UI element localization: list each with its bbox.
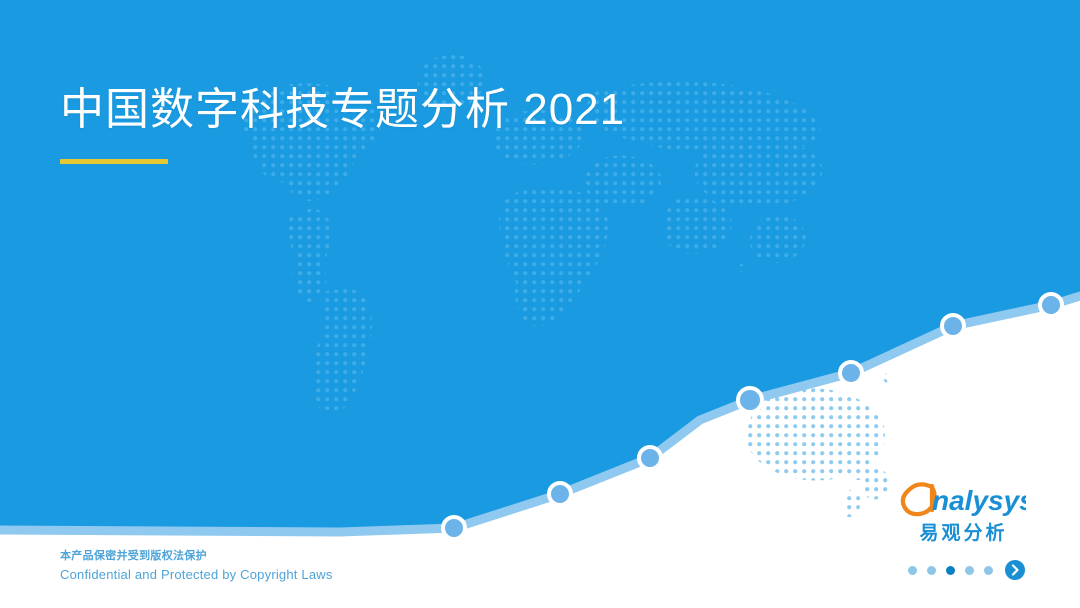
analysys-logo: nalysys 易观分析 [898, 477, 1026, 545]
analysys-wordmark-icon: nalysys [898, 477, 1026, 517]
copyright-footer: 本产品保密并受到版权法保护 Confidential and Protected… [60, 548, 333, 585]
copyright-notice-cn: 本产品保密并受到版权法保护 [60, 548, 333, 565]
trend-marker [443, 517, 465, 539]
slide-pager[interactable] [908, 560, 1025, 580]
pager-dot[interactable] [965, 566, 974, 575]
page-title: 中国数字科技专题分析 2021 [60, 82, 625, 137]
next-slide-button[interactable] [1005, 560, 1025, 580]
title-accent-rule [60, 159, 168, 164]
analysys-name-cn: 易观分析 [898, 518, 1026, 545]
pager-dot[interactable] [908, 566, 917, 575]
svg-text:nalysys: nalysys [932, 485, 1026, 516]
trend-marker [549, 483, 571, 505]
trend-marker [738, 388, 762, 412]
trend-marker [1040, 294, 1062, 316]
chevron-right-icon [1005, 560, 1025, 580]
pager-dot-active[interactable] [946, 566, 955, 575]
pager-dot[interactable] [984, 566, 993, 575]
slide-canvas: 中国数字科技专题分析 2021 本产品保密并受到版权法保护 Confidenti… [0, 0, 1080, 608]
trend-marker [942, 315, 964, 337]
copyright-notice-en: Confidential and Protected by Copyright … [60, 565, 333, 585]
pager-dot[interactable] [927, 566, 936, 575]
trend-marker [840, 362, 862, 384]
title-block: 中国数字科技专题分析 2021 [60, 82, 625, 164]
trend-marker [639, 447, 661, 469]
